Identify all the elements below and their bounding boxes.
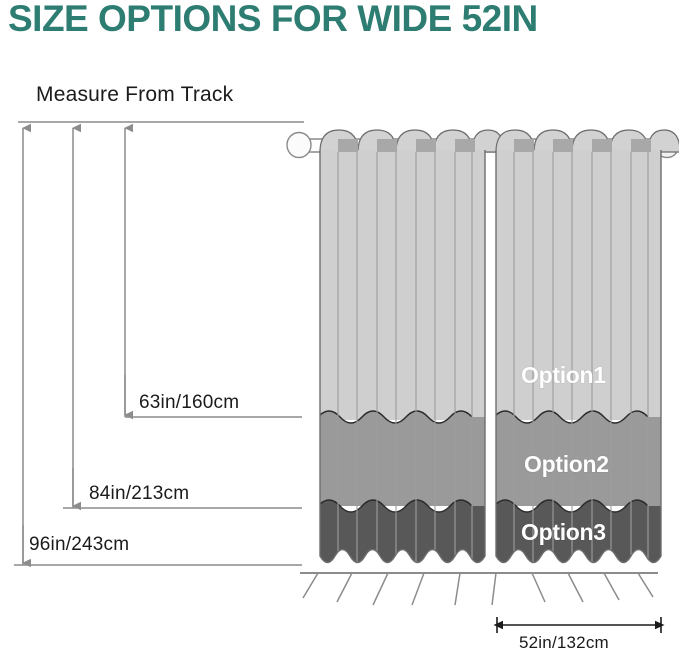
dimension-label-96: 96in/243cm (29, 534, 129, 556)
option1-band-left (318, 148, 488, 420)
rod-finial-left-icon (287, 133, 311, 158)
curtain-panel-right (494, 130, 679, 572)
floor-hatch-icon (303, 573, 653, 605)
dimension-label-width: 52in/132cm (519, 633, 609, 653)
floor-line-group (300, 573, 658, 605)
curtain-panel-left (318, 130, 504, 572)
option3-band-left (318, 500, 488, 572)
option2-label: Option2 (524, 451, 609, 478)
width-dimension (497, 617, 661, 633)
option1-label: Option1 (521, 362, 606, 389)
dimension-label-84: 84in/213cm (89, 483, 189, 505)
option3-label: Option3 (521, 519, 606, 546)
option2-band-left (318, 411, 488, 506)
dimension-label-63: 63in/160cm (139, 392, 239, 414)
diagram-graphics (0, 0, 679, 660)
size-options-diagram: SIZE OPTIONS FOR WIDE 52IN Measure From … (0, 0, 679, 660)
